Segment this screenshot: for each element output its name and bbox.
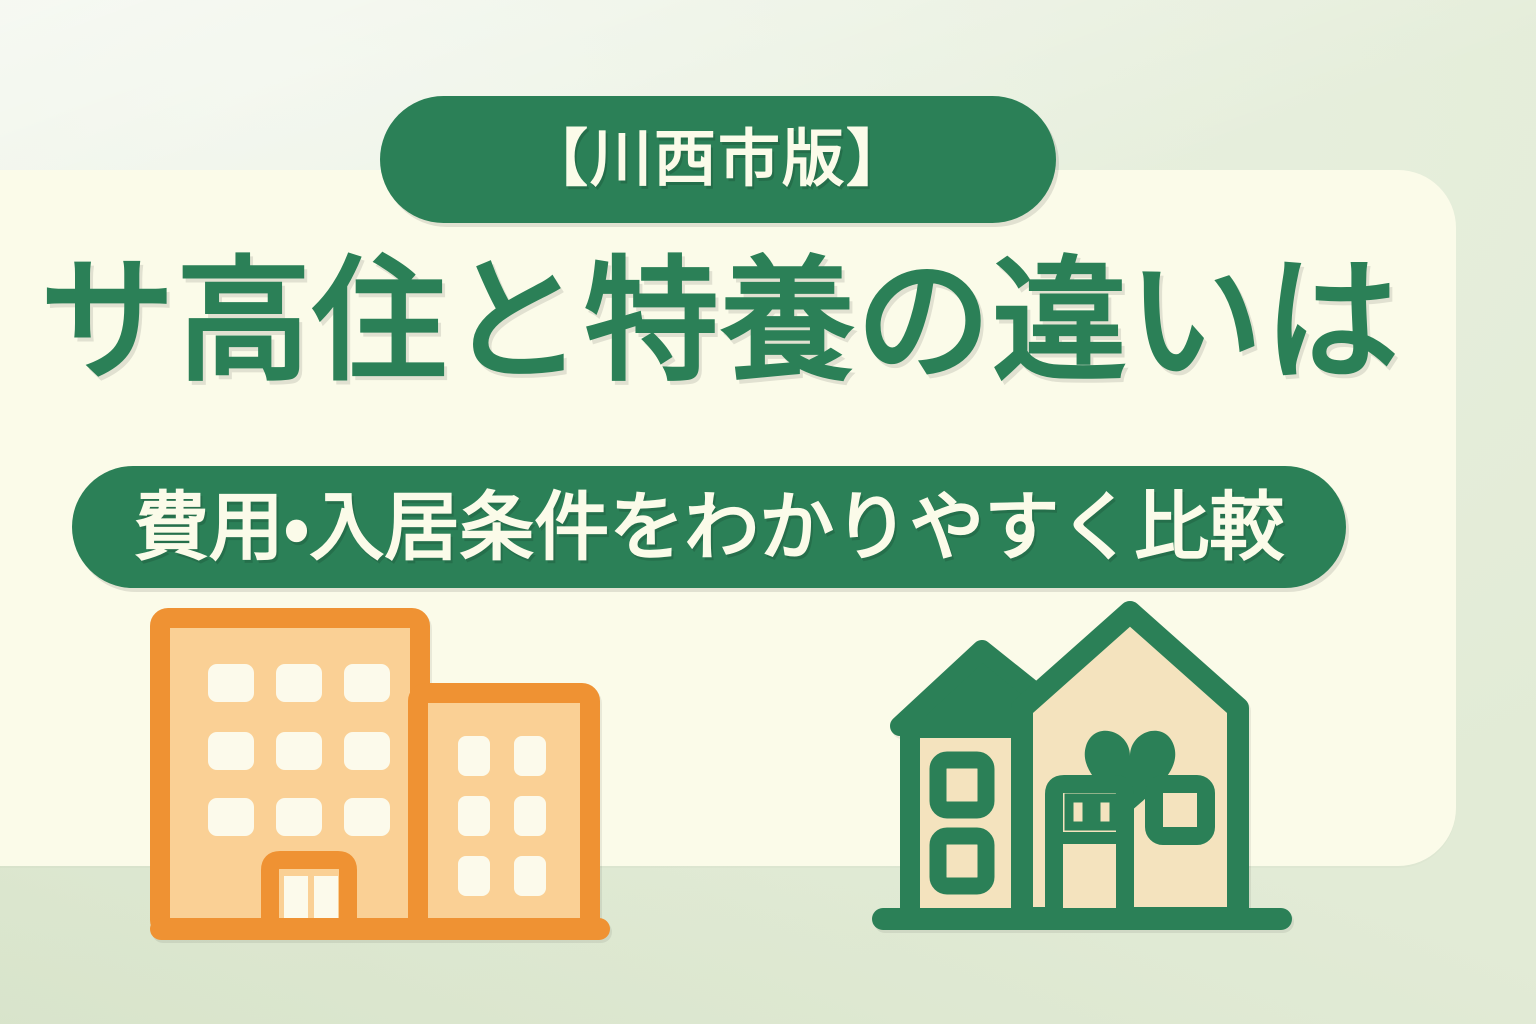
- poster-canvas: 【川西市版】 サ高住と特養の違いは 費用・入居条件をわかりやすく比較: [0, 0, 1536, 1024]
- apartment-wing: [418, 693, 590, 928]
- house-annex-window-top: [938, 760, 986, 810]
- region-badge: 【川西市版】: [380, 96, 1056, 223]
- apartment-tower-windows: [208, 664, 390, 836]
- subtitle-banner: 費用・入居条件をわかりやすく比較: [72, 466, 1346, 588]
- care-home-house-icon: [872, 598, 1292, 953]
- house-door-pane-right: [1096, 798, 1114, 826]
- apartment-ground-bar: [150, 918, 610, 940]
- house-ground-bar: [872, 908, 1292, 930]
- house-front-window: [1154, 784, 1206, 836]
- subtitle-banner-label: 費用・入居条件をわかりやすく比較: [134, 490, 1285, 565]
- house-door-pane-left: [1069, 798, 1087, 826]
- region-badge-label: 【川西市版】: [526, 129, 910, 191]
- house-annex-window-bottom: [938, 836, 986, 886]
- apartment-building-icon: [150, 608, 610, 953]
- page-title: サ高住と特養の違いは: [0, 252, 1440, 391]
